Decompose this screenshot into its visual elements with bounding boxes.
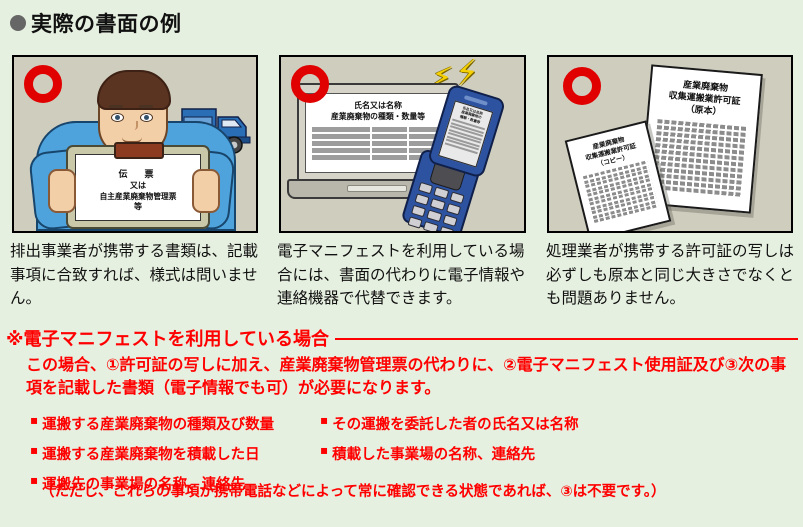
worker-hand-left [48, 169, 76, 213]
laptop-screen-line-1: 氏名又は名称 [312, 101, 444, 112]
clipboard-clamp [114, 142, 164, 159]
panel-electronic-manifest: ⚡ ⚡ 氏名又は名称 産業廃棄物の種類・数量等 [279, 55, 526, 233]
example-panels: 伝 票 又は 自主産業廃棄物管理票 等 ⚡ ⚡ 氏名又は名称 [0, 55, 803, 235]
list-item: ▪運搬する産業廃棄物の種類及び数量 [30, 413, 320, 434]
note-bullet-text: 運搬する産業廃棄物の種類及び数量 [42, 413, 274, 434]
note-heading: ※電子マニフェストを利用している場合 [6, 325, 798, 351]
worker-nose [129, 121, 138, 130]
list-item: ▪その運搬を委託した者の氏名又は名称 [320, 413, 579, 434]
page-root: 実際の書面の例 [0, 0, 803, 527]
note-heading-text: ※電子マニフェストを利用している場合 [6, 325, 329, 351]
note-body-text: この場合、①許可証の写しに加え、産業廃棄物管理票の代わりに、②電子マニフェスト使… [26, 353, 798, 399]
note-heading-rule [335, 338, 798, 340]
list-item: ▪運搬する産業廃棄物を積載した日 [30, 443, 320, 464]
clipboard: 伝 票 又は 自主産業廃棄物管理票 等 [66, 145, 210, 229]
panel-discharger-document: 伝 票 又は 自主産業廃棄物管理票 等 [12, 55, 258, 233]
clipboard-paper: 伝 票 又は 自主産業廃棄物管理票 等 [75, 154, 201, 221]
permit-original-body-lines [651, 120, 747, 198]
page-title-text: 実際の書面の例 [31, 8, 182, 38]
panel-permit-certificate: 産業廃棄物 収集運搬業許可証 （原本） 産業廃棄物 収集運搬業許可証 （コピー） [547, 55, 793, 233]
worker-eye-right [140, 113, 153, 122]
clipboard-line-1: 伝 票 [118, 170, 157, 180]
bullet-square-icon: ▪ [320, 443, 328, 459]
worker-eye-left [111, 113, 124, 122]
laptop-screen-line-2: 産業廃棄物の種類・数量等 [313, 112, 442, 123]
worker-eyebrow-right [139, 105, 153, 108]
worker-hand-right [192, 169, 220, 213]
red-circle-ok-icon [291, 65, 329, 103]
note-bullet-row: ▪運搬する産業廃棄物を積載した日 ▪積載した事業場の名称、連絡先 [30, 443, 802, 464]
list-item: ▪積載した事業場の名称、連絡先 [320, 443, 535, 464]
caption-panel-3: 処理業者が携帯する許可証の写しは必ずしも原本と同じ大きさでなくとも問題ありません… [546, 240, 798, 311]
note-bullet-text: 積載した事業場の名称、連絡先 [332, 443, 535, 464]
clipboard-line-4: 等 [134, 202, 142, 211]
clipboard-line-2: 又は [130, 181, 146, 190]
filled-circle-icon [10, 15, 26, 31]
worker-hair [97, 70, 171, 110]
bullet-square-icon: ▪ [30, 443, 38, 459]
bullet-square-icon: ▪ [30, 413, 38, 429]
bullet-square-icon: ▪ [320, 413, 328, 429]
phone-screen-body: 氏名又は名称 産業廃棄物の 種類・数量等 [427, 83, 506, 178]
permit-copy-body-lines [583, 161, 659, 224]
note-bullet-text: その運搬を委託した者の氏名又は名称 [332, 413, 579, 434]
note-parenthetical: （ただし、これらの事項が携帯電話などによって常に確認できる状態であれば、③は不要… [40, 480, 665, 501]
note-bullet-row: ▪運搬する産業廃棄物の種類及び数量 ▪その運搬を委託した者の氏名又は名称 [30, 413, 802, 434]
clipboard-line-3: 自主産業廃棄物管理票 [100, 192, 177, 201]
phone-screen: 氏名又は名称 産業廃棄物の 種類・数量等 [438, 100, 493, 167]
red-circle-ok-icon [24, 65, 62, 103]
note-bullet-text: 運搬する産業廃棄物を積載した日 [42, 443, 260, 464]
bullet-square-icon: ▪ [30, 473, 38, 489]
worker-eyebrow-left [109, 105, 123, 108]
caption-panel-1: 排出事業者が携帯する書類は、記載事項に合致すれば、様式は問いません。 [10, 240, 268, 311]
laptop-touchpad [347, 185, 407, 192]
red-circle-ok-icon [563, 67, 601, 105]
caption-panel-2: 電子マニフェストを利用している場合には、書面の代わりに電子情報や連絡機器で代替で… [277, 240, 539, 311]
page-title: 実際の書面の例 [10, 8, 182, 38]
